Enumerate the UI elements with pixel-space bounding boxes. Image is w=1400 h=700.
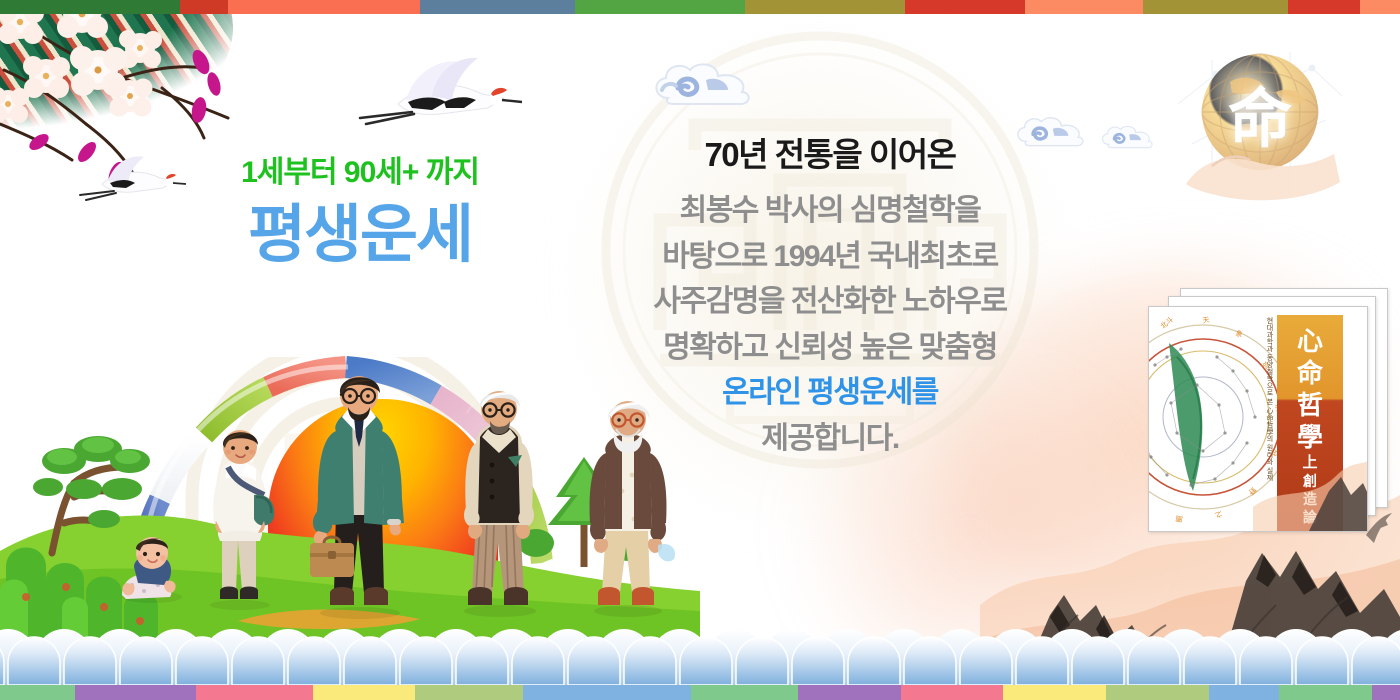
strip-block-0 (0, 685, 75, 700)
wave-arc-front (904, 637, 956, 685)
wave-arc-front (960, 637, 1012, 685)
wave-arc-front (792, 637, 844, 685)
right-description-block: 70년 전통을 이어온 최봉수 박사의 심명철학을바탕으로 1994년 국내최초… (575, 128, 1085, 462)
wave-arc-front (344, 637, 396, 685)
strip-block-10 (1106, 685, 1209, 700)
strip-block-1 (75, 685, 196, 700)
svg-text:天: 天 (1202, 316, 1210, 325)
wave-arc-front (624, 637, 676, 685)
crane-icon (336, 52, 526, 138)
wave-arc-front (1240, 637, 1292, 685)
wave-arc-front (1016, 637, 1068, 685)
right-line-4: 온라인 평생운세를 (575, 370, 1085, 416)
strip-block-0 (0, 0, 180, 14)
wave-arc-front (1072, 637, 1124, 685)
wave-arc-front (512, 637, 564, 685)
book-front-cover: 北斗 天 象 列 次 分 野 之 圖 心 命 哲 學 上 創 造 (1148, 306, 1368, 532)
kicker-text: 1세부터 90세+ 까지 (150, 158, 570, 188)
figure-student (192, 423, 288, 611)
wave-arc-front (288, 637, 340, 685)
strip-block-6 (691, 685, 798, 700)
fortune-telling-banner: 命 1세부터 90세+ 까지 평생운세 70년 전통을 이어온 최봉수 박사의 … (0, 0, 1400, 700)
strip-block-1 (180, 0, 228, 14)
wave-scallop-icon (0, 627, 1400, 685)
right-line-2: 사주감명을 전산화한 노하우로 (575, 279, 1085, 325)
right-line-0: 최봉수 박사의 심명철학을 (575, 188, 1085, 234)
wave-arc-front (1184, 637, 1236, 685)
strip-block-3 (313, 685, 416, 700)
strip-block-12 (1279, 685, 1372, 700)
svg-text:象: 象 (1234, 328, 1243, 339)
wave-arc-front (232, 637, 284, 685)
right-line-3: 명확하고 신뢰성 높은 맞춤형 (575, 325, 1085, 371)
wave-arc-front (680, 637, 732, 685)
strip-block-5 (523, 685, 691, 700)
bottom-color-strip (0, 685, 1400, 700)
page-title: 평생운세 (150, 202, 570, 268)
golden-globe-in-hand: 命 (1172, 34, 1348, 210)
right-line-5: 제공합니다. (575, 416, 1085, 462)
svg-text:北斗: 北斗 (1159, 315, 1175, 330)
right-headline: 70년 전통을 이어온 (575, 128, 1085, 176)
wave-arc-front (1352, 637, 1400, 685)
strip-block-8 (901, 685, 1004, 700)
strip-block-4 (415, 685, 522, 700)
strip-block-10 (1360, 0, 1400, 14)
strip-block-2 (196, 685, 313, 700)
wave-arc-front (1296, 637, 1348, 685)
figure-adult (296, 373, 422, 619)
book-stack: 北斗 天 象 列 次 分 野 之 圖 心 命 哲 學 上 創 造 (1128, 288, 1390, 538)
strip-block-13 (1372, 685, 1400, 700)
strip-block-11 (1209, 685, 1279, 700)
strip-block-6 (905, 0, 1025, 14)
strip-block-7 (1025, 0, 1143, 14)
strip-block-9 (1003, 685, 1106, 700)
wave-arc-front (400, 637, 452, 685)
auspicious-cloud-icon (1098, 122, 1156, 154)
svg-text:之: 之 (1214, 509, 1224, 520)
svg-text:圖: 圖 (1175, 514, 1183, 523)
strip-block-3 (420, 0, 575, 14)
right-line-1: 바탕으로 1994년 국내최초로 (575, 234, 1085, 280)
wave-arc-front (176, 637, 228, 685)
top-color-strip (0, 0, 1400, 14)
strip-block-8 (1143, 0, 1288, 14)
wave-arc-front (456, 637, 508, 685)
wave-arc-front (848, 637, 900, 685)
figure-middle-aged (440, 387, 558, 617)
strip-block-7 (798, 685, 901, 700)
wave-arc-front (568, 637, 620, 685)
wave-arc-front (8, 637, 60, 685)
right-body-lines: 최봉수 박사의 심명철학을바탕으로 1994년 국내최초로사주감명을 전산화한 … (575, 188, 1085, 462)
wave-arc-front (736, 637, 788, 685)
globe-character: 命 (1172, 68, 1348, 160)
strip-block-5 (745, 0, 905, 14)
strip-block-2 (228, 0, 420, 14)
strip-block-4 (575, 0, 745, 14)
book-cover-mountain (1253, 445, 1368, 532)
figure-baby (112, 529, 188, 607)
auspicious-cloud-icon (648, 58, 756, 114)
wave-arc-front (64, 637, 116, 685)
wave-arc-front (120, 637, 172, 685)
strip-block-9 (1288, 0, 1360, 14)
wave-arc-front (1128, 637, 1180, 685)
left-headline-block: 1세부터 90세+ 까지 평생운세 (150, 158, 570, 268)
